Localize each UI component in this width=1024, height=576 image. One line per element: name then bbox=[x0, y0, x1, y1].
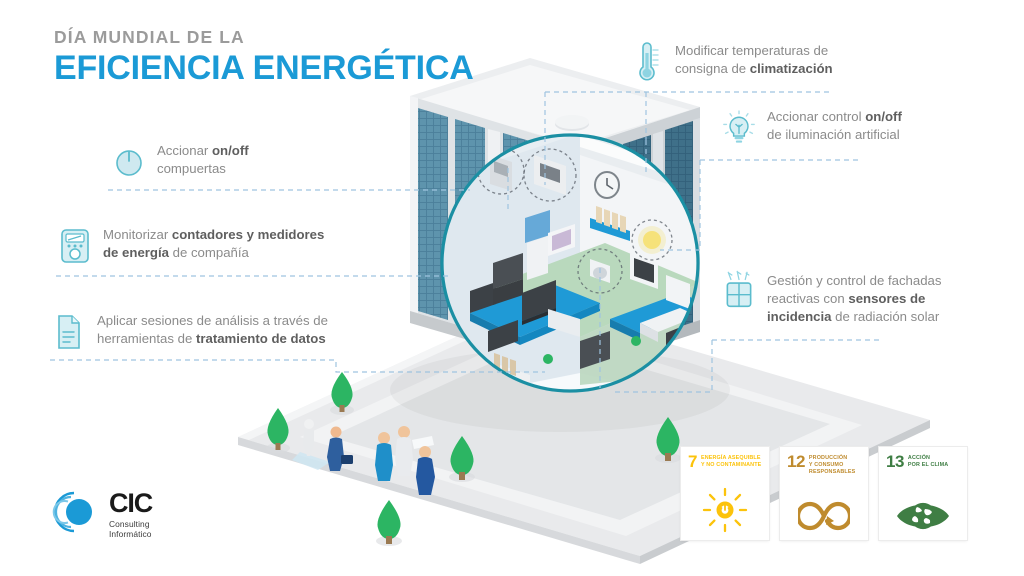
callout-facade-text: Gestión y control de fachadasreactivas c… bbox=[767, 272, 941, 327]
sdg-badges: 7 ENERGÍA ASEQUIBLEY NO CONTAMINANTE bbox=[681, 447, 967, 540]
sun-icon bbox=[681, 487, 769, 533]
title-headline: EFICIENCIA ENERGÉTICA bbox=[54, 50, 474, 87]
callout-meter[interactable]: Monitorizar contadores y medidoresde ene… bbox=[58, 226, 324, 266]
sdg-badge-7[interactable]: 7 ENERGÍA ASEQUIBLEY NO CONTAMINANTE bbox=[681, 447, 769, 540]
wire-facade-v bbox=[612, 340, 712, 392]
infographic-canvas: DÍA MUNDIAL DE LA EFICIENCIA ENERGÉTICA … bbox=[0, 0, 1024, 576]
sdg-13-label: ACCIÓNPOR EL CLIMA bbox=[908, 454, 948, 469]
wire-document bbox=[50, 360, 545, 372]
lightbulb-icon bbox=[722, 108, 756, 148]
cic-tagline: ConsultingInformático bbox=[109, 519, 152, 540]
callout-thermostat[interactable]: Modificar temperaturas deconsigna de cli… bbox=[630, 42, 833, 82]
callout-thermostat-text: Modificar temperaturas deconsigna de cli… bbox=[675, 42, 833, 78]
callout-facade[interactable]: Gestión y control de fachadasreactivas c… bbox=[722, 272, 941, 327]
cic-logo[interactable]: CIC ConsultingInformático bbox=[52, 487, 152, 542]
cic-spiral-logo bbox=[52, 487, 102, 542]
data-document-icon bbox=[52, 312, 86, 352]
title-kicker: DÍA MUNDIAL DE LA bbox=[54, 28, 474, 47]
callout-lighting[interactable]: Accionar control on/offde iluminación ar… bbox=[722, 108, 902, 148]
infinity-icon bbox=[780, 499, 868, 533]
callout-power-text: Accionar on/offcompuertas bbox=[157, 142, 249, 178]
callout-lighting-text: Accionar control on/offde iluminación ar… bbox=[767, 108, 902, 144]
sdg-7-number: 7 bbox=[688, 454, 697, 470]
callout-meter-text: Monitorizar contadores y medidoresde ene… bbox=[103, 226, 324, 262]
energy-meter-icon bbox=[58, 226, 92, 266]
climate-eye-icon bbox=[879, 499, 967, 533]
solar-window-icon bbox=[722, 272, 756, 312]
power-button-icon bbox=[112, 142, 146, 182]
sdg-badge-13[interactable]: 13 ACCIÓNPOR EL CLIMA bbox=[879, 447, 967, 540]
sdg-7-label: ENERGÍA ASEQUIBLEY NO CONTAMINANTE bbox=[701, 454, 761, 469]
page-title: DÍA MUNDIAL DE LA EFICIENCIA ENERGÉTICA bbox=[54, 28, 474, 87]
callout-document-text: Aplicar sesiones de análisis a través de… bbox=[97, 312, 328, 348]
cic-wordmark: CIC bbox=[109, 490, 152, 517]
sdg-12-label: PRODUCCIÓNY CONSUMORESPONSABLES bbox=[809, 454, 855, 476]
sdg-12-number: 12 bbox=[787, 454, 805, 470]
callout-document[interactable]: Aplicar sesiones de análisis a través de… bbox=[52, 312, 328, 352]
sdg-13-number: 13 bbox=[886, 454, 904, 470]
thermometer-icon bbox=[630, 42, 664, 82]
sdg-badge-12[interactable]: 12 PRODUCCIÓNY CONSUMORESPONSABLES bbox=[780, 447, 868, 540]
callout-power[interactable]: Accionar on/offcompuertas bbox=[112, 142, 249, 182]
